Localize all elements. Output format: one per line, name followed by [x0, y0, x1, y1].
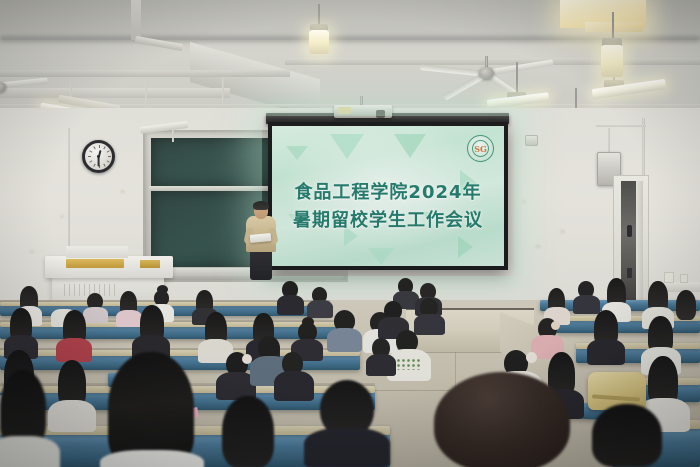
head	[434, 372, 570, 467]
decor-triangle	[394, 134, 426, 158]
clock-tick	[108, 156, 111, 157]
lecture-hall-photo: SG 食品工程学院2024年 暑期留校学生工作会议	[0, 0, 700, 467]
fan-hub	[0, 82, 6, 92]
wall-conduit-horizontal	[596, 125, 646, 127]
fan-blade	[0, 78, 48, 90]
wall-clock	[82, 140, 115, 173]
fan-hub	[479, 67, 494, 79]
skylight-panel-2	[585, 22, 643, 32]
light-cord	[318, 4, 320, 26]
projection-screen: SG 食品工程学院2024年 暑期留校学生工作会议	[268, 122, 508, 270]
torso	[304, 428, 390, 467]
torso	[83, 307, 108, 323]
wall-mark	[120, 190, 125, 193]
clock-tick	[103, 146, 105, 149]
wall-mark	[535, 245, 541, 248]
slide-title-line-2: 暑期留校学生工作会议	[272, 206, 504, 232]
projector-label	[338, 107, 351, 114]
torso	[573, 295, 600, 314]
clock-minute-hand	[98, 156, 100, 166]
lectern-vent	[114, 284, 115, 296]
hair-bun	[551, 321, 560, 330]
light-cord	[612, 12, 614, 40]
decor-triangle	[368, 248, 394, 265]
door-handle[interactable]	[627, 225, 632, 237]
torso	[277, 295, 304, 315]
clock-tick	[88, 156, 91, 157]
clock-tick	[93, 164, 95, 167]
hair	[676, 290, 696, 320]
torso	[0, 436, 60, 467]
lectern-riser	[66, 246, 128, 258]
decor-triangle	[286, 146, 308, 160]
clock-tick	[99, 145, 100, 148]
ceiling-shadow	[0, 36, 700, 42]
ceiling-hanger-3	[222, 77, 224, 105]
clock-tick	[106, 160, 109, 162]
school-crest-letters: SG	[472, 140, 489, 157]
wall-mark	[60, 215, 64, 218]
clock-tick	[103, 164, 105, 167]
decor-triangle	[458, 236, 473, 258]
pendant-lamp	[309, 30, 329, 54]
side-door-leaf[interactable]	[636, 181, 643, 309]
wall-mark	[522, 200, 526, 203]
wall-conduit-left	[68, 128, 70, 264]
slide-title-line-1: 食品工程学院2024年	[272, 178, 504, 204]
clock-tick	[106, 150, 109, 152]
ceiling-fan	[0, 78, 54, 96]
torso	[327, 328, 362, 352]
hair-bun	[302, 317, 314, 327]
projection-screen-surface: SG 食品工程学院2024年 暑期留校学生工作会议	[272, 126, 504, 266]
hair-scrunchie	[526, 352, 537, 363]
wall-conduit-right	[642, 118, 645, 180]
clock-tick	[93, 146, 95, 149]
ceiling-beam-horizontal	[0, 70, 290, 77]
torso	[274, 371, 314, 401]
ceiling-beam-vertical	[131, 0, 141, 40]
hair	[222, 396, 274, 467]
clock-tick	[89, 150, 92, 152]
wall-thermostat	[525, 135, 538, 146]
hair-bun	[157, 285, 168, 294]
door-hinge	[627, 268, 632, 278]
lectern-vent	[109, 284, 110, 296]
pendant-lamp	[601, 45, 623, 77]
school-crest-logo: SG	[467, 135, 494, 162]
hair	[592, 404, 662, 467]
wall-mark	[560, 230, 565, 233]
lectern-vent	[104, 284, 105, 296]
presenter-hair	[253, 201, 269, 210]
torso	[56, 338, 92, 362]
torso	[307, 300, 333, 318]
clock-center-pin	[97, 155, 100, 158]
projector-lens	[376, 110, 385, 118]
bench-row-b[interactable]	[0, 326, 345, 339]
side-counter-item	[664, 272, 674, 283]
fan-blade	[486, 59, 554, 76]
lectern-wood-trim	[66, 259, 124, 268]
lectern-vent	[79, 284, 80, 296]
blackboard-light-arm	[172, 128, 174, 142]
lectern-vent	[74, 284, 75, 296]
ceiling-hanger-2	[145, 77, 147, 105]
tshirt-graphic	[396, 358, 422, 370]
side-counter-item	[680, 274, 688, 283]
decor-triangle	[330, 134, 364, 159]
clock-tick	[89, 160, 92, 162]
ceiling-fan	[420, 60, 556, 86]
lectern-wood-trim	[140, 260, 160, 268]
lectern-vent	[84, 284, 85, 296]
torso	[366, 354, 396, 376]
torso	[48, 400, 96, 432]
torso	[100, 450, 204, 467]
light-cord	[516, 62, 518, 94]
torso	[414, 314, 445, 335]
presenter-legs	[250, 250, 272, 280]
wall-mark	[30, 250, 34, 253]
torso	[116, 310, 142, 327]
torso	[587, 339, 625, 365]
